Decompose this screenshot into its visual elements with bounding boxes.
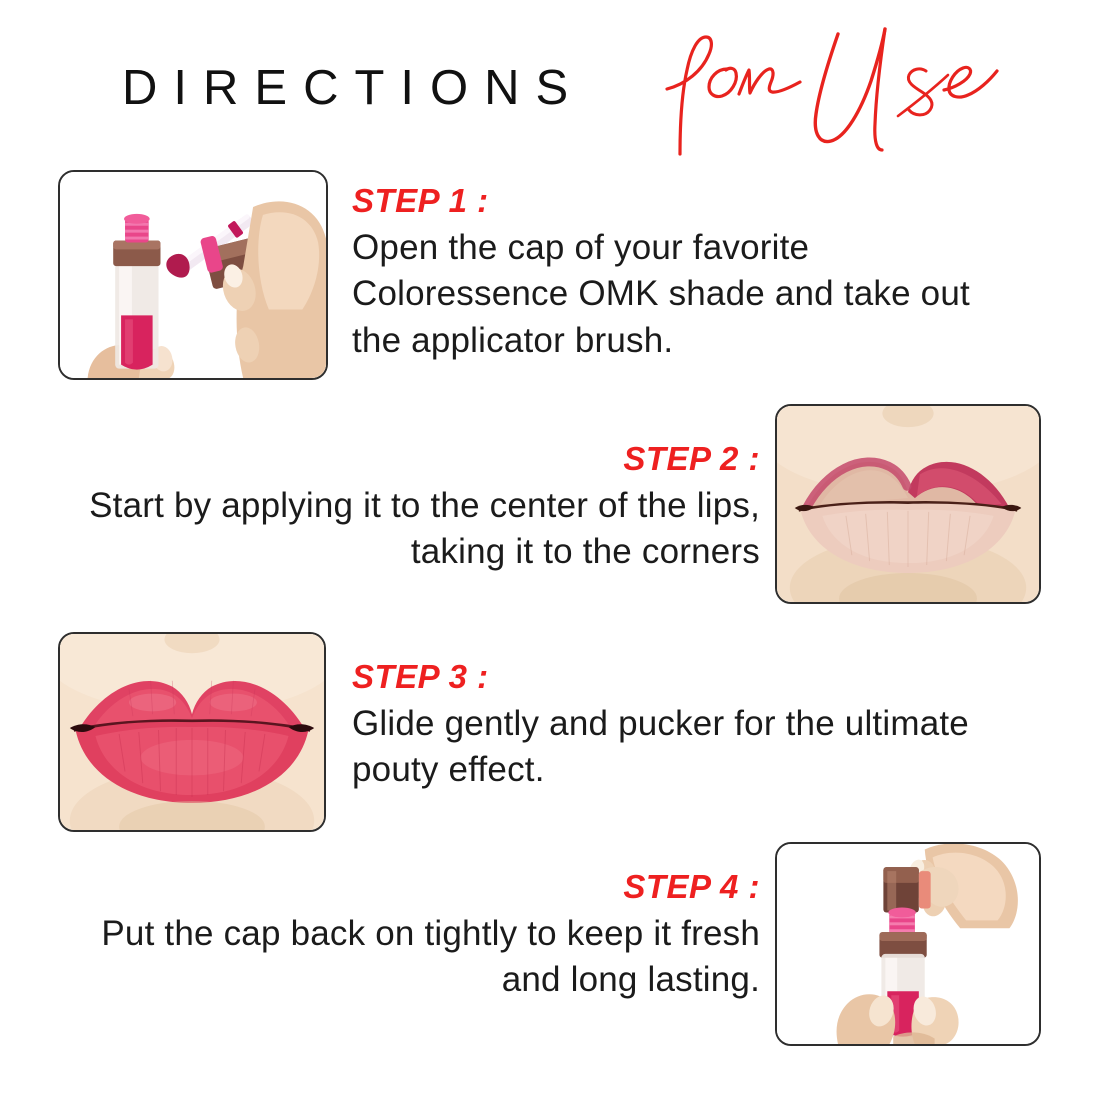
step-1-photo [58,170,328,380]
lip-tube-closing-illustration [777,844,1039,1044]
step-2-photo [775,404,1041,604]
lip-tube-open-illustration [60,172,326,378]
lips-full-color-illustration [60,634,324,830]
step-4-body: Put the cap back on tightly to keep it f… [78,911,760,1004]
step-4-text-block: STEP 4 : Put the cap back on tightly to … [78,868,760,1004]
page-header: DIRECTIONS [0,52,1100,162]
page-title-directions: DIRECTIONS [122,64,584,113]
step-3-text-block: STEP 3 : Glide gently and pucker for the… [352,658,1012,794]
step-2-body: Start by applying it to the center of th… [38,483,760,576]
page-title-script [626,26,1006,156]
step-1-text-block: STEP 1 : Open the cap of your favorite C… [352,182,1012,365]
step-3-body: Glide gently and pucker for the ultimate… [352,701,1012,794]
script-for-use-icon [626,26,1006,156]
step-1-body: Open the cap of your favorite Coloressen… [352,225,1012,365]
step-2-text-block: STEP 2 : Start by applying it to the cen… [38,440,760,576]
step-2-label: STEP 2 : [38,440,760,479]
step-3-label: STEP 3 : [352,658,1012,697]
step-3-photo [58,632,326,832]
step-4-photo [775,842,1041,1046]
step-1-label: STEP 1 : [352,182,1012,221]
lips-partial-color-illustration [777,406,1039,602]
step-4-label: STEP 4 : [78,868,760,907]
